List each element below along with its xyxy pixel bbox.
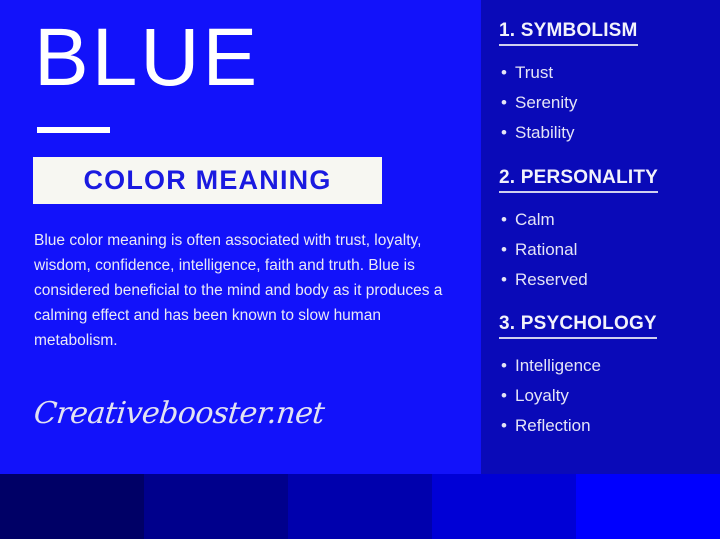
color-meaning-poster: BLUE COLOR MEANING Blue color meaning is… xyxy=(0,0,720,539)
list-item-label: Trust xyxy=(515,63,553,82)
list-item: •Serenity xyxy=(515,88,720,118)
section-heading-personality: 2. PERSONALITY xyxy=(499,167,658,193)
list-item: •Rational xyxy=(515,235,720,265)
left-panel: BLUE COLOR MEANING Blue color meaning is… xyxy=(0,0,481,474)
bullet-icon: • xyxy=(501,235,507,265)
bullet-icon: • xyxy=(501,381,507,411)
section-symbolism: 1. SYMBOLISM •Trust •Serenity •Stability xyxy=(481,20,720,148)
section-heading-psychology: 3. PSYCHOLOGY xyxy=(499,313,657,339)
list-item-label: Calm xyxy=(515,210,555,229)
right-panel: 1. SYMBOLISM •Trust •Serenity •Stability… xyxy=(481,0,720,474)
swatch-3 xyxy=(288,474,432,539)
page-title: BLUE xyxy=(34,10,260,106)
section-psychology: 3. PSYCHOLOGY •Intelligence •Loyalty •Re… xyxy=(481,313,720,441)
bullet-list-personality: •Calm •Rational •Reserved xyxy=(481,205,720,295)
body-paragraph: Blue color meaning is often associated w… xyxy=(34,228,444,353)
list-item-label: Intelligence xyxy=(515,356,601,375)
color-meaning-badge-label: COLOR MEANING xyxy=(83,165,331,196)
list-item: •Reserved xyxy=(515,265,720,295)
brand-signature: Creativebooster.net xyxy=(32,396,326,431)
swatch-2 xyxy=(144,474,288,539)
color-meaning-badge: COLOR MEANING xyxy=(33,157,382,204)
list-item-label: Loyalty xyxy=(515,386,569,405)
list-item: •Trust xyxy=(515,58,720,88)
list-item-label: Reserved xyxy=(515,270,588,289)
list-item-label: Reflection xyxy=(515,416,591,435)
bullet-icon: • xyxy=(501,411,507,441)
list-item: •Intelligence xyxy=(515,351,720,381)
list-item-label: Serenity xyxy=(515,93,577,112)
bullet-list-symbolism: •Trust •Serenity •Stability xyxy=(481,58,720,148)
list-item: •Reflection xyxy=(515,411,720,441)
title-underline-rule xyxy=(37,127,110,133)
swatch-4 xyxy=(432,474,576,539)
list-item: •Loyalty xyxy=(515,381,720,411)
bullet-list-psychology: •Intelligence •Loyalty •Reflection xyxy=(481,351,720,441)
list-item-label: Rational xyxy=(515,240,577,259)
bullet-icon: • xyxy=(501,265,507,295)
swatch-5 xyxy=(576,474,720,539)
bullet-icon: • xyxy=(501,88,507,118)
list-item: •Stability xyxy=(515,118,720,148)
bullet-icon: • xyxy=(501,58,507,88)
section-heading-symbolism: 1. SYMBOLISM xyxy=(499,20,638,46)
list-item-label: Stability xyxy=(515,123,575,142)
swatch-1 xyxy=(0,474,144,539)
section-personality: 2. PERSONALITY •Calm •Rational •Reserved xyxy=(481,167,720,295)
list-item: •Calm xyxy=(515,205,720,235)
bullet-icon: • xyxy=(501,118,507,148)
bullet-icon: • xyxy=(501,351,507,381)
bullet-icon: • xyxy=(501,205,507,235)
color-swatch-strip xyxy=(0,474,720,539)
